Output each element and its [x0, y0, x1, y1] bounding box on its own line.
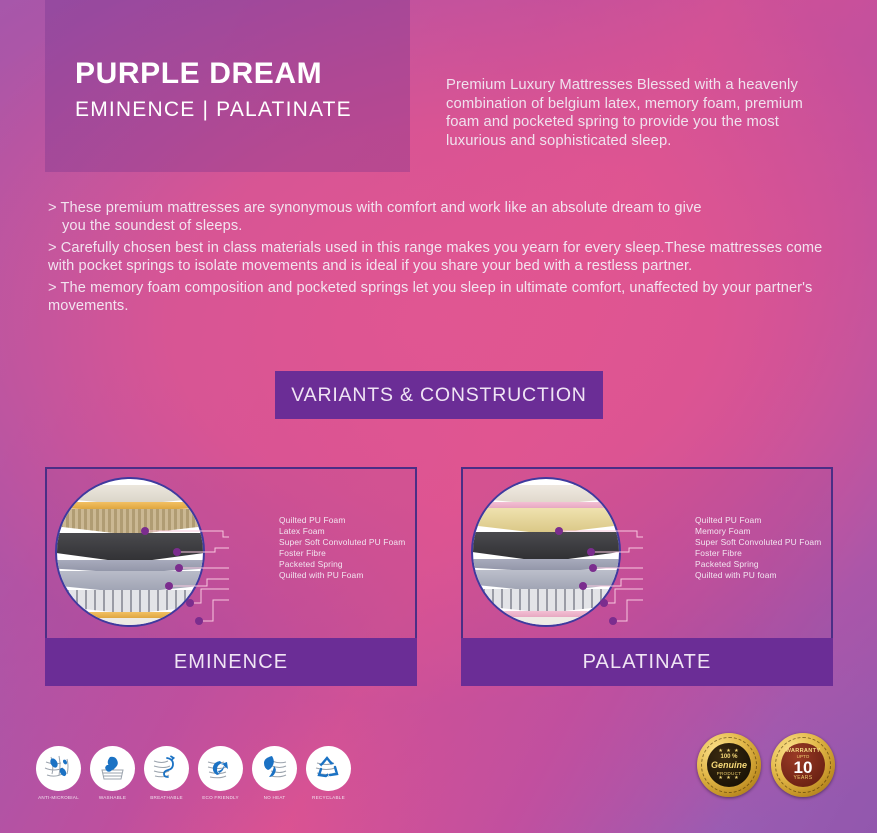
layer-label-list-eminence: Quilted PU Foam Latex Foam Super Soft Co… [279, 515, 405, 581]
layer-label: Foster Fibre [695, 548, 821, 559]
recyclable-icon [306, 746, 351, 791]
feature-anti-microbial[interactable]: ANTI-MICROBIAL [36, 746, 81, 800]
layer-label-list-palatinate: Quilted PU Foam Memory Foam Super Soft C… [695, 515, 821, 581]
layer-label: Packeted Spring [695, 559, 821, 570]
bullet-lead: > These premium mattresses are synonymou… [48, 200, 702, 216]
badge-ring [701, 737, 757, 793]
feature-bullets: > These premium mattresses are synonymou… [48, 199, 832, 318]
feature-recyclable[interactable]: RECYCLABLE [306, 746, 351, 800]
variants-banner-label: VARIANTS & CONSTRUCTION [291, 384, 586, 407]
feature-no-heat[interactable]: NO HEAT [252, 746, 297, 800]
hero-text-block: PURPLE DREAM EMINENCE | PALATINATE [75, 58, 352, 122]
feature-label: ECO FRIENDLY [198, 795, 243, 800]
bullet-item: > These premium mattresses are synonymou… [48, 199, 832, 236]
layer-label: Quilted with PU foam [695, 570, 821, 581]
hero-panel: PURPLE DREAM EMINENCE | PALATINATE [45, 0, 410, 172]
page-title: PURPLE DREAM [75, 58, 352, 90]
variant-name-eminence[interactable]: EMINENCE [45, 638, 417, 686]
bullet-item: > The memory foam composition and pocket… [48, 279, 832, 316]
breathable-icon [144, 746, 189, 791]
bullet-lead: > The memory foam composition and pocket… [48, 280, 718, 296]
feature-washable[interactable]: WASHABLE [90, 746, 135, 800]
layer-label: Quilted PU Foam [695, 515, 821, 526]
feature-label: NO HEAT [252, 795, 297, 800]
variant-name-palatinate[interactable]: PALATINATE [461, 638, 833, 686]
variants-banner: VARIANTS & CONSTRUCTION [275, 371, 603, 419]
feature-breathable[interactable]: BREATHABLE [144, 746, 189, 800]
feature-icon-row: ANTI-MICROBIAL WASHABLE [36, 746, 351, 800]
mattress-diagram-eminence [55, 477, 223, 627]
bullet-cont: you the soundest of sleeps. [48, 217, 832, 235]
feature-label: RECYCLABLE [306, 795, 351, 800]
trust-badge-row: ★ ★ ★ 100 % Genuine PRODUCT ★ ★ ★ WARRAN… [697, 733, 835, 797]
mattress-cutaway-circle [55, 477, 205, 627]
genuine-product-badge: ★ ★ ★ 100 % Genuine PRODUCT ★ ★ ★ [697, 733, 761, 797]
bullet-lead: > Carefully chosen best in class materia… [48, 240, 706, 256]
feature-label: WASHABLE [90, 795, 135, 800]
badge-ring [775, 737, 831, 793]
feature-label: BREATHABLE [144, 795, 189, 800]
layer-label: Latex Foam [279, 526, 405, 537]
mattress-diagram-palatinate [471, 477, 639, 627]
feature-label: ANTI-MICROBIAL [36, 795, 81, 800]
feature-eco-friendly[interactable]: ECO FRIENDLY [198, 746, 243, 800]
variant-name-label: PALATINATE [583, 651, 712, 674]
hero-description: Premium Luxury Mattresses Blessed with a… [446, 76, 828, 150]
layer-label: Foster Fibre [279, 548, 405, 559]
layer-label: Quilted with PU Foam [279, 570, 405, 581]
layer-label: Packeted Spring [279, 559, 405, 570]
washable-icon [90, 746, 135, 791]
warranty-badge: WARRANTY UPTO 10 YEARS [771, 733, 835, 797]
mattress-cutaway-circle [471, 477, 621, 627]
eco-friendly-icon [198, 746, 243, 791]
anti-microbial-icon [36, 746, 81, 791]
layer-label: Quilted PU Foam [279, 515, 405, 526]
layer-label: Super Soft Convoluted PU Foam [279, 537, 405, 548]
bullet-item: > Carefully chosen best in class materia… [48, 239, 832, 276]
variant-name-label: EMINENCE [174, 651, 288, 674]
hero-subtitle: EMINENCE | PALATINATE [75, 98, 352, 122]
layer-label: Super Soft Convoluted PU Foam [695, 537, 821, 548]
no-heat-icon [252, 746, 297, 791]
layer-label: Memory Foam [695, 526, 821, 537]
